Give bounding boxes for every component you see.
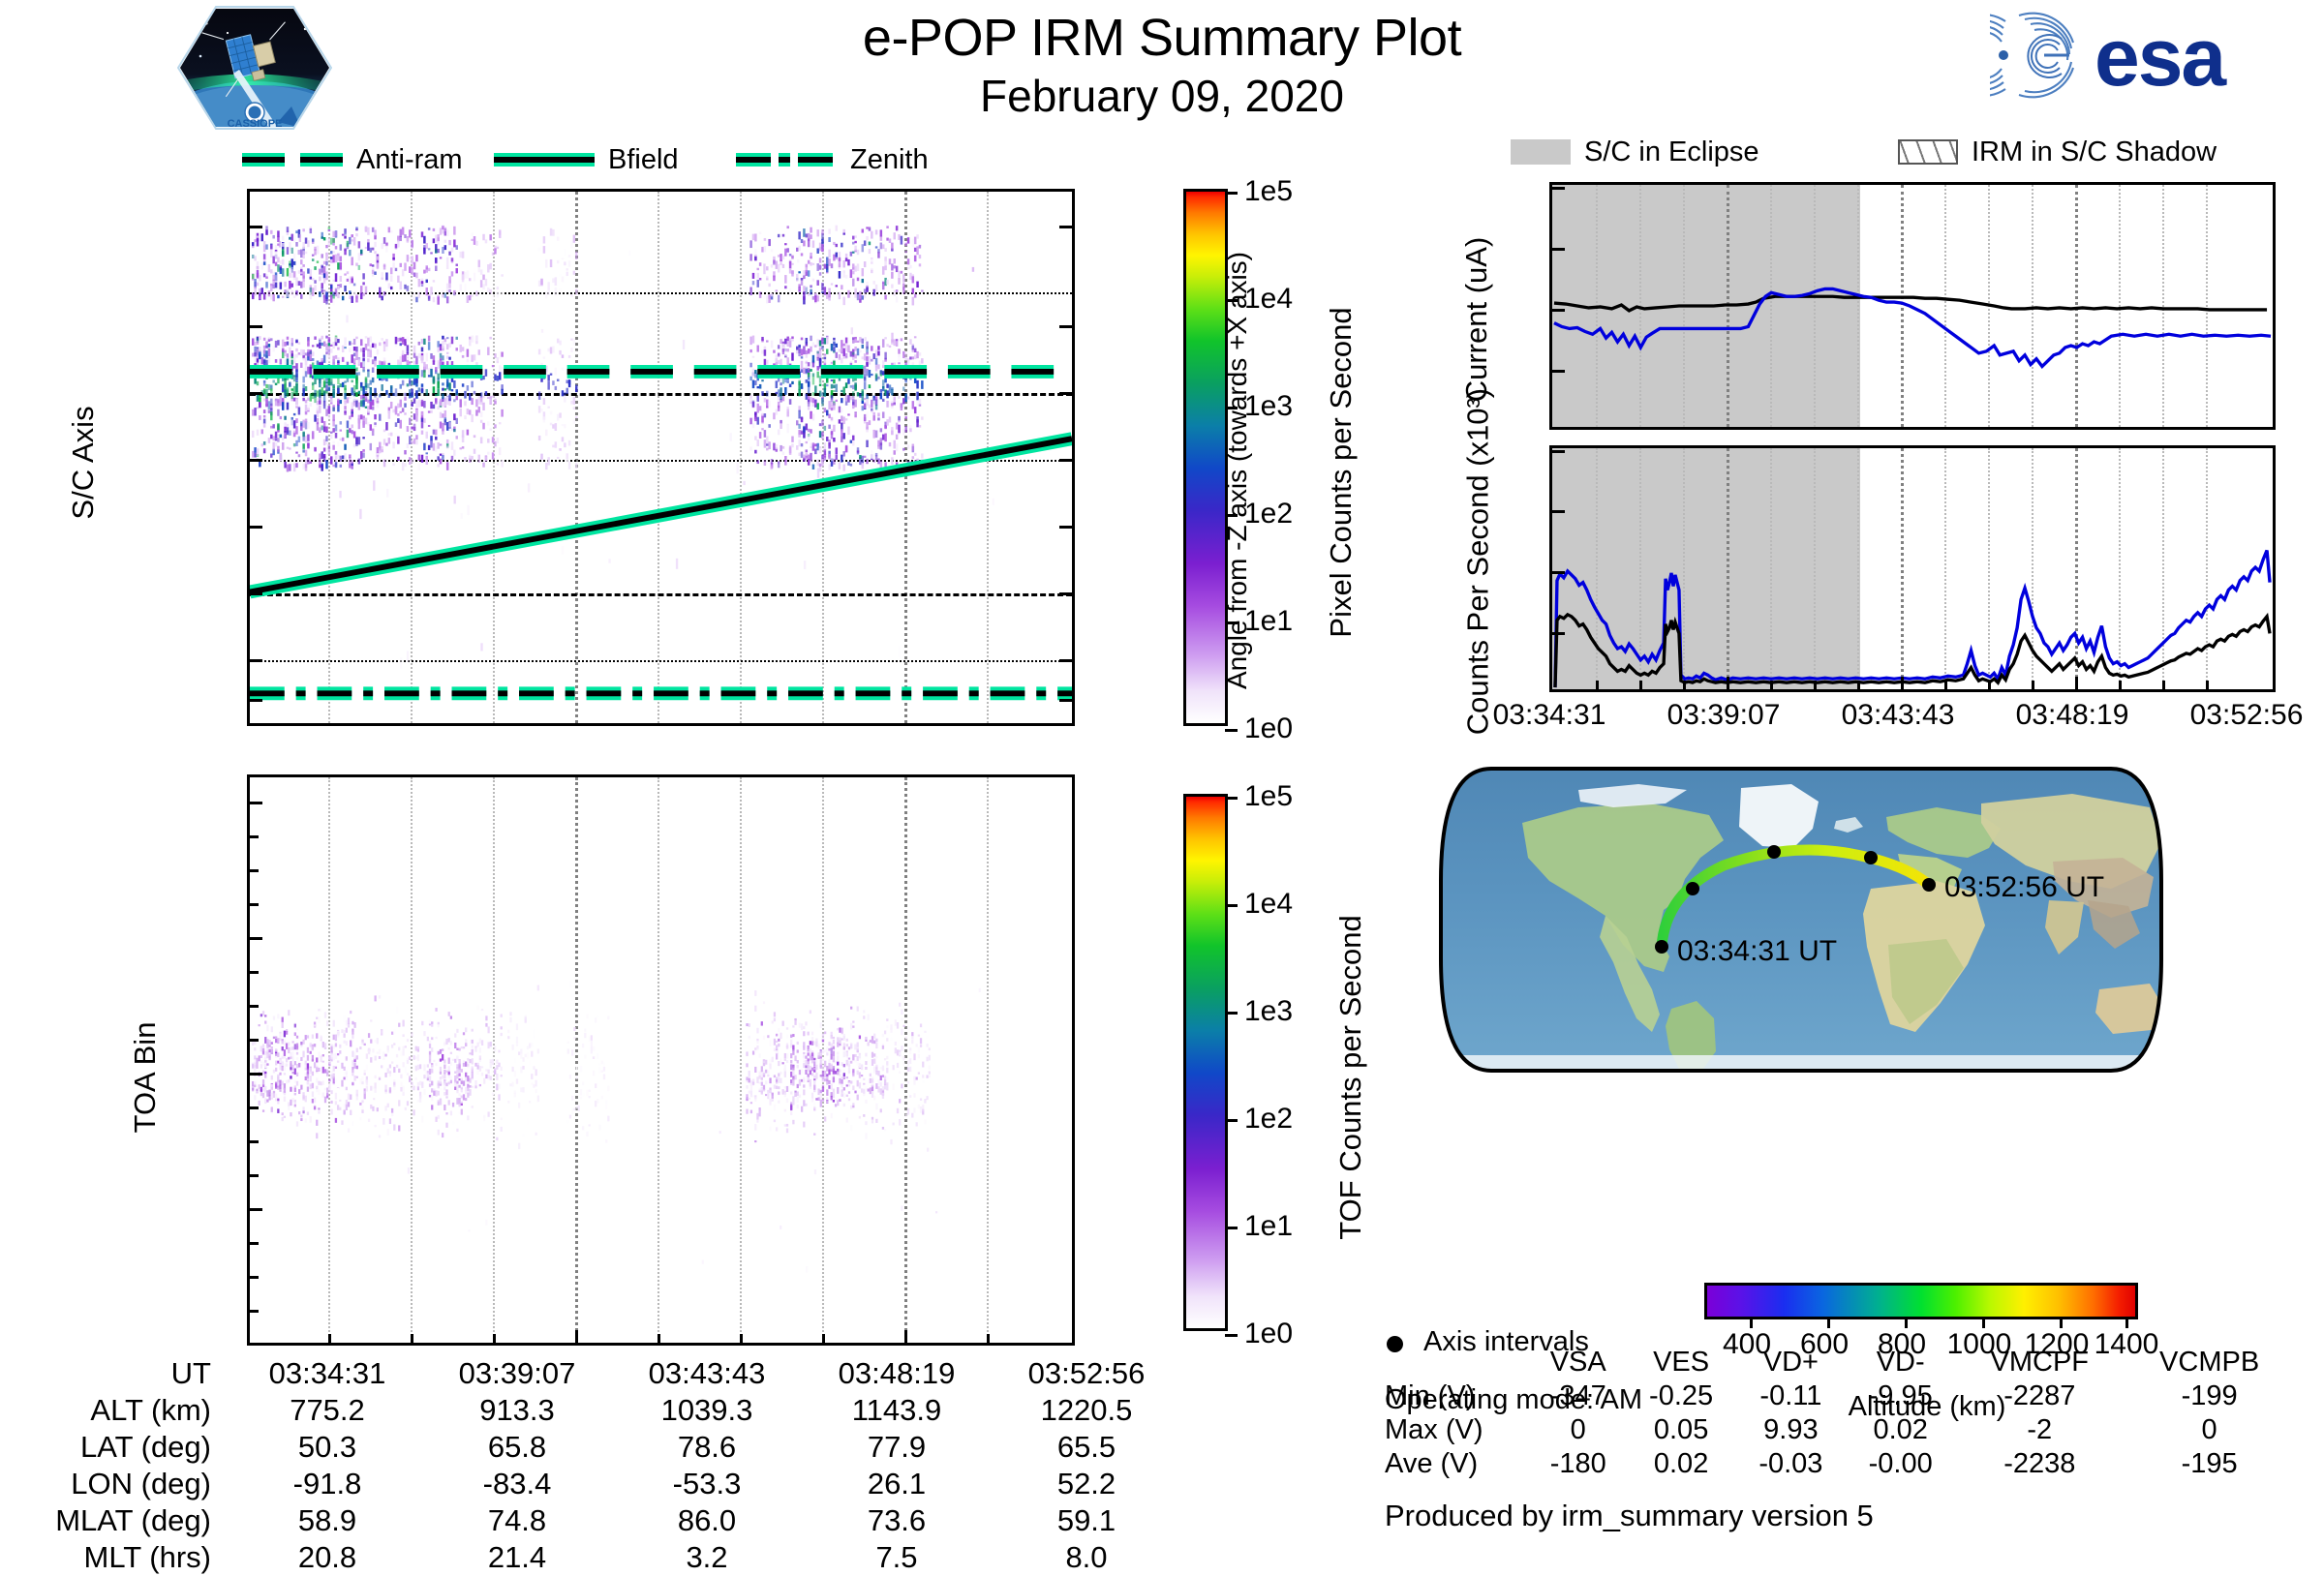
legend-item-irm-shadow: IRM in S/C Shadow bbox=[1898, 136, 2217, 168]
stats-column-header: VSA bbox=[1530, 1346, 1626, 1379]
tof-cb-tick-2: 1e3 bbox=[1244, 995, 1293, 1028]
right-xtick-4: 03:52:56 bbox=[2190, 699, 2304, 732]
pixel-cb-tick-4: 1e1 bbox=[1244, 605, 1293, 638]
sensor-surface-current-x5-line bbox=[1554, 288, 2271, 366]
info-row-label: LAT (deg) bbox=[39, 1429, 232, 1466]
pixel-cb-tick-3: 1e2 bbox=[1244, 498, 1293, 530]
info-table-row: LON (deg)-91.8-83.4-53.326.152.2 bbox=[39, 1466, 1181, 1502]
stats-column-header: VD+ bbox=[1736, 1346, 1846, 1379]
stats-column-header: VES bbox=[1626, 1346, 1735, 1379]
stats-column-header: VD- bbox=[1846, 1346, 1955, 1379]
current-series-lines bbox=[1552, 185, 2273, 427]
info-cell: 8.0 bbox=[992, 1539, 1181, 1576]
map-end-time-label: 03:52:56 UT bbox=[1944, 871, 2104, 904]
stats-row: Min (V)-347-0.25-0.11-9.95-2287-199 bbox=[1385, 1379, 2295, 1413]
info-cell: 1220.5 bbox=[992, 1392, 1181, 1429]
toa-bin-tof-counts-heatmap bbox=[250, 777, 1072, 1343]
stats-cell: 0 bbox=[1530, 1413, 1626, 1447]
info-cell: 03:48:19 bbox=[802, 1355, 992, 1392]
tof-cb-tick-0: 1e5 bbox=[1244, 780, 1293, 813]
legend-label-bfield: Bfield bbox=[608, 144, 679, 176]
pixel-counts-colorbar: 1e5 1e4 1e3 1e2 1e1 1e0 bbox=[1183, 189, 1228, 726]
eclipse-swatch bbox=[1511, 139, 1571, 165]
zenith-line-sample bbox=[736, 153, 837, 167]
stats-row-label: Min (V) bbox=[1385, 1379, 1530, 1413]
toa-bin-heatmap-panel: 200 150 100 50 1 bbox=[247, 774, 1075, 1346]
pixel-cb-tick-2: 1e3 bbox=[1244, 390, 1293, 423]
stats-cell: -0.11 bbox=[1736, 1379, 1846, 1413]
stats-row: Ave (V)-1800.02-0.03-0.00-2238-195 bbox=[1385, 1447, 2295, 1481]
info-table-row: MLAT (deg)58.974.886.073.659.1 bbox=[39, 1502, 1181, 1539]
legend-eclipse-shadow: S/C in Eclipse IRM in S/C Shadow bbox=[1511, 136, 2285, 168]
counts-ylabel-text: Counts Per Second (x10³) bbox=[1461, 388, 1495, 735]
tof-counts-colorbar-label: TOF Counts per Second bbox=[1333, 850, 1368, 1305]
anti-ram-line-sample bbox=[242, 153, 343, 167]
info-row-label: MLAT (deg) bbox=[39, 1502, 232, 1539]
info-cell: 03:52:56 bbox=[992, 1355, 1181, 1392]
stats-cell: 0.02 bbox=[1626, 1447, 1735, 1481]
tof-counts-colorbar: 1e5 1e4 1e3 1e2 1e1 1e0 bbox=[1183, 794, 1228, 1331]
sc-axis-overlay-curves bbox=[250, 192, 1072, 723]
produced-by-label: Produced by irm_summary version 5 bbox=[1385, 1499, 1874, 1533]
stats-cell: -180 bbox=[1530, 1447, 1626, 1481]
cassiope-logo-text: CASSIOPE bbox=[228, 118, 283, 130]
esa-logo-text: esa bbox=[2095, 12, 2227, 103]
info-row-label: UT bbox=[39, 1355, 232, 1392]
info-table-row: UT03:34:3103:39:0703:43:4303:48:1903:52:… bbox=[39, 1355, 1181, 1392]
stats-cell: 0 bbox=[2124, 1413, 2295, 1447]
stats-column-header: VMCPF bbox=[1955, 1346, 2124, 1379]
info-cell: 50.3 bbox=[232, 1429, 422, 1466]
info-cell: 03:34:31 bbox=[232, 1355, 422, 1392]
stats-cell: -347 bbox=[1530, 1379, 1626, 1413]
stats-row-label: Ave (V) bbox=[1385, 1447, 1530, 1481]
cassiope-mission-patch-logo: CASSIOPE bbox=[177, 6, 332, 130]
info-cell: 73.6 bbox=[802, 1502, 992, 1539]
info-cell: 21.4 bbox=[422, 1539, 612, 1576]
stats-cell: -195 bbox=[2124, 1447, 2295, 1481]
stats-row: Max (V)00.059.930.02-20 bbox=[1385, 1413, 2295, 1447]
info-cell: 1143.9 bbox=[802, 1392, 992, 1429]
pixel-cb-tick-5: 1e0 bbox=[1244, 712, 1293, 745]
info-cell: 74.8 bbox=[422, 1502, 612, 1539]
sensor-surface-current-line bbox=[1554, 296, 2267, 311]
right-xtick-2: 03:43:43 bbox=[1842, 699, 1955, 732]
info-row-label: LON (deg) bbox=[39, 1466, 232, 1502]
info-cell: 26.1 bbox=[802, 1466, 992, 1502]
orbit-info-table: UT03:34:3103:39:0703:43:4303:48:1903:52:… bbox=[39, 1355, 1181, 1576]
right-xtick-3: 03:48:19 bbox=[2016, 699, 2129, 732]
right-xtick-1: 03:39:07 bbox=[1667, 699, 1781, 732]
info-cell: 65.8 bbox=[422, 1429, 612, 1466]
stats-cell: -2238 bbox=[1955, 1447, 2124, 1481]
stats-cell: -0.00 bbox=[1846, 1447, 1955, 1481]
legend-label-anti-ram: Anti-ram bbox=[356, 144, 463, 176]
stats-cell: -0.25 bbox=[1626, 1379, 1735, 1413]
info-cell: 58.9 bbox=[232, 1502, 422, 1539]
stats-cell: -2 bbox=[1955, 1413, 2124, 1447]
tof-cb-tick-3: 1e2 bbox=[1244, 1103, 1293, 1136]
info-cell: 86.0 bbox=[612, 1502, 802, 1539]
page-subtitle-date: February 09, 2020 bbox=[0, 70, 2324, 122]
esa-logo: esa bbox=[1990, 6, 2280, 103]
info-cell: 7.5 bbox=[802, 1539, 992, 1576]
voltage-stats-table: VSAVESVD+VD-VMCPFVCMPBMin (V)-347-0.25-0… bbox=[1385, 1346, 2295, 1481]
stats-cell: -9.95 bbox=[1846, 1379, 1955, 1413]
stats-cell: 9.93 bbox=[1736, 1413, 1846, 1447]
info-cell: 1039.3 bbox=[612, 1392, 802, 1429]
legend-item-bfield: Bfield bbox=[494, 144, 736, 176]
stats-cell: -0.03 bbox=[1736, 1447, 1846, 1481]
stats-column-header: VCMPB bbox=[2124, 1346, 2295, 1379]
toa-bin-ylabel: TOA Bin bbox=[128, 990, 163, 1165]
stats-cell: 0.02 bbox=[1846, 1413, 1955, 1447]
info-cell: 775.2 bbox=[232, 1392, 422, 1429]
info-cell: 913.3 bbox=[422, 1392, 612, 1429]
counts-per-second-panel: 1.00 0.75 0.50 0.25 0.00 bbox=[1549, 445, 2276, 692]
stats-row-label: Max (V) bbox=[1385, 1413, 1530, 1447]
bfield-line-sample bbox=[494, 153, 595, 167]
sc-axis-heatmap-panel: -X/-Z 315 -X 270 +Z/-X 225 +Z 180 +X/+Z … bbox=[247, 189, 1075, 726]
sc-axis-ylabel: S/C Axis bbox=[66, 376, 101, 550]
legend-sc-axis: Anti-ram Bfield Zenith bbox=[242, 143, 978, 176]
counts-ylabel: Counts Per Second (x10³) bbox=[1463, 435, 1495, 735]
legend-item-anti-ram: Anti-ram bbox=[242, 144, 494, 176]
info-cell: 03:43:43 bbox=[612, 1355, 802, 1392]
info-table-row: ALT (km)775.2913.31039.31143.91220.5 bbox=[39, 1392, 1181, 1429]
info-cell: -53.3 bbox=[612, 1466, 802, 1502]
orbit-ground-track-map: 03:34:31 UT 03:52:56 UT bbox=[1433, 765, 2169, 1075]
info-cell: 77.9 bbox=[802, 1429, 992, 1466]
info-cell: 03:39:07 bbox=[422, 1355, 612, 1392]
info-table-row: MLT (hrs)20.821.43.27.58.0 bbox=[39, 1539, 1181, 1576]
sensor-current-panel: 10 5 0 -5 -10 bbox=[1549, 182, 2276, 430]
legend-label-eclipse: S/C in Eclipse bbox=[1584, 136, 1759, 168]
tof-cb-tick-1: 1e4 bbox=[1244, 888, 1293, 921]
info-row-label: ALT (km) bbox=[39, 1392, 232, 1429]
map-start-time-label: 03:34:31 UT bbox=[1677, 935, 1837, 968]
info-row-label: MLT (hrs) bbox=[39, 1539, 232, 1576]
pixel-cb-tick-1: 1e4 bbox=[1244, 283, 1293, 316]
tof-cb-tick-5: 1e0 bbox=[1244, 1318, 1293, 1350]
tof-cb-tick-4: 1e1 bbox=[1244, 1210, 1293, 1243]
info-cell: 65.5 bbox=[992, 1429, 1181, 1466]
bfield-curve bbox=[250, 439, 1072, 591]
info-cell: 59.1 bbox=[992, 1502, 1181, 1539]
pixel-counts-colorbar-label: Pixel Counts per Second bbox=[1324, 250, 1359, 695]
info-cell: -91.8 bbox=[232, 1466, 422, 1502]
pixel-cb-tick-0: 1e5 bbox=[1244, 175, 1293, 208]
hit-counter-line bbox=[1555, 615, 2270, 687]
legend-label-zenith: Zenith bbox=[850, 144, 929, 176]
stats-corner-cell bbox=[1385, 1346, 1530, 1379]
right-xtick-0: 03:34:31 bbox=[1493, 699, 1606, 732]
page-title: e-POP IRM Summary Plot bbox=[0, 8, 2324, 68]
legend-item-zenith: Zenith bbox=[736, 144, 929, 176]
info-cell: -83.4 bbox=[422, 1466, 612, 1502]
info-table-row: LAT (deg)50.365.878.677.965.5 bbox=[39, 1429, 1181, 1466]
stats-header-row: VSAVESVD+VD-VMCPFVCMPB bbox=[1385, 1346, 2295, 1379]
info-cell: 20.8 bbox=[232, 1539, 422, 1576]
legend-label-irm-shadow: IRM in S/C Shadow bbox=[1972, 136, 2217, 168]
irm-shadow-swatch bbox=[1898, 139, 1958, 165]
info-cell: 52.2 bbox=[992, 1466, 1181, 1502]
counts-series-lines bbox=[1552, 448, 2273, 689]
stats-cell: 0.05 bbox=[1626, 1413, 1735, 1447]
legend-item-eclipse: S/C in Eclipse bbox=[1511, 136, 1898, 168]
altitude-colorbar bbox=[1704, 1283, 2138, 1319]
info-cell: 78.6 bbox=[612, 1429, 802, 1466]
stats-cell: -2287 bbox=[1955, 1379, 2124, 1413]
info-cell: 3.2 bbox=[612, 1539, 802, 1576]
stats-cell: -199 bbox=[2124, 1379, 2295, 1413]
